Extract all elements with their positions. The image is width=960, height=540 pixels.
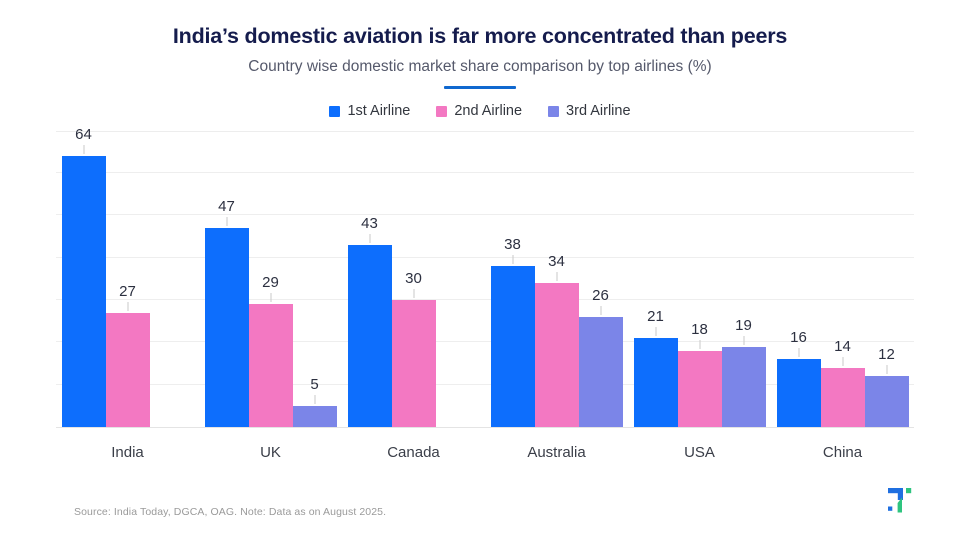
bar-label-tick bbox=[226, 217, 227, 226]
bar-slot: 27 bbox=[106, 132, 150, 427]
bar-slot: 34 bbox=[535, 132, 579, 427]
bar-india-series1[interactable]: 64 bbox=[62, 156, 106, 428]
bar-value-label: 26 bbox=[592, 287, 609, 304]
bar-value-label: 34 bbox=[548, 253, 565, 270]
bar-label-tick bbox=[314, 395, 315, 404]
legend-swatch-icon bbox=[436, 106, 447, 117]
chart-footer: Source: India Today, DGCA, OAG. Note: Da… bbox=[0, 484, 960, 540]
bar-label-tick bbox=[127, 302, 128, 311]
bar-slot: 16 bbox=[777, 132, 821, 427]
bar-australia-series2[interactable]: 34 bbox=[535, 283, 579, 427]
bar-value-label: 12 bbox=[878, 346, 895, 363]
bar-value-label: 21 bbox=[647, 308, 664, 325]
bar-label-tick bbox=[270, 293, 271, 302]
bar-label-tick bbox=[556, 272, 557, 281]
bar-slot: 30 bbox=[392, 132, 436, 427]
bar-value-label: 64 bbox=[75, 126, 92, 143]
brand-logo-icon bbox=[880, 484, 914, 518]
bar-china-series2[interactable]: 14 bbox=[821, 368, 865, 427]
bar-slot: 64 bbox=[62, 132, 106, 427]
accent-rule bbox=[444, 86, 516, 89]
bar-value-label: 5 bbox=[310, 376, 318, 393]
bar-value-label: 47 bbox=[218, 198, 235, 215]
category-label-uk: UK bbox=[199, 444, 342, 461]
bar-label-tick bbox=[798, 348, 799, 357]
bar-value-label: 19 bbox=[735, 317, 752, 334]
bar-group-china: 161412 bbox=[771, 132, 914, 427]
bar-usa-series3[interactable]: 19 bbox=[722, 347, 766, 428]
legend-item-3[interactable]: 3rd Airline bbox=[548, 103, 630, 119]
bar-china-series3[interactable]: 12 bbox=[865, 376, 909, 427]
bar-value-label: 29 bbox=[262, 274, 279, 291]
bar-value-label: 43 bbox=[361, 215, 378, 232]
bar-label-tick bbox=[600, 306, 601, 315]
bar-slot bbox=[150, 132, 194, 427]
bar-usa-series1[interactable]: 21 bbox=[634, 338, 678, 427]
bar-canada-series2[interactable]: 30 bbox=[392, 300, 436, 427]
bar-canada-series1[interactable]: 43 bbox=[348, 245, 392, 427]
bar-slot: 43 bbox=[348, 132, 392, 427]
bar-label-tick bbox=[886, 365, 887, 374]
category-label-india: India bbox=[56, 444, 199, 461]
bar-value-label: 14 bbox=[834, 338, 851, 355]
bar-groups: 6427472954330383426211819161412 bbox=[56, 132, 914, 427]
bar-label-tick bbox=[369, 234, 370, 243]
chart-legend: 1st Airline2nd Airline3rd Airline bbox=[0, 103, 960, 119]
source-note: Source: India Today, DGCA, OAG. Note: Da… bbox=[74, 506, 386, 518]
legend-label: 3rd Airline bbox=[566, 103, 630, 119]
bar-group-australia: 383426 bbox=[485, 132, 628, 427]
bar-slot bbox=[436, 132, 480, 427]
bar-slot: 19 bbox=[722, 132, 766, 427]
bar-label-tick bbox=[743, 336, 744, 345]
bar-slot: 21 bbox=[634, 132, 678, 427]
page-title: India’s domestic aviation is far more co… bbox=[0, 24, 960, 49]
bar-label-tick bbox=[699, 340, 700, 349]
bar-india-series2[interactable]: 27 bbox=[106, 313, 150, 428]
bar-value-label: 30 bbox=[405, 270, 422, 287]
legend-swatch-icon bbox=[548, 106, 559, 117]
bar-value-label: 16 bbox=[790, 329, 807, 346]
category-axis: IndiaUKCanadaAustraliaUSAChina bbox=[56, 444, 914, 461]
bar-slot: 26 bbox=[579, 132, 623, 427]
legend-label: 1st Airline bbox=[347, 103, 410, 119]
bar-group-usa: 211819 bbox=[628, 132, 771, 427]
bar-label-tick bbox=[83, 145, 84, 154]
category-label-usa: USA bbox=[628, 444, 771, 461]
bar-group-uk: 47295 bbox=[199, 132, 342, 427]
bar-group-india: 6427 bbox=[56, 132, 199, 427]
bar-slot: 38 bbox=[491, 132, 535, 427]
bar-value-label: 38 bbox=[504, 236, 521, 253]
bar-uk-series1[interactable]: 47 bbox=[205, 228, 249, 427]
chart-card: India’s domestic aviation is far more co… bbox=[0, 0, 960, 540]
legend-item-2[interactable]: 2nd Airline bbox=[436, 103, 522, 119]
bar-uk-series3[interactable]: 5 bbox=[293, 406, 337, 427]
bar-value-label: 27 bbox=[119, 283, 136, 300]
legend-item-1[interactable]: 1st Airline bbox=[329, 103, 410, 119]
bar-slot: 47 bbox=[205, 132, 249, 427]
category-label-australia: Australia bbox=[485, 444, 628, 461]
chart-header: India’s domestic aviation is far more co… bbox=[0, 0, 960, 89]
bar-australia-series1[interactable]: 38 bbox=[491, 266, 535, 427]
bar-label-tick bbox=[655, 327, 656, 336]
bar-label-tick bbox=[413, 289, 414, 298]
bar-slot: 18 bbox=[678, 132, 722, 427]
bar-china-series1[interactable]: 16 bbox=[777, 359, 821, 427]
category-label-china: China bbox=[771, 444, 914, 461]
bar-uk-series2[interactable]: 29 bbox=[249, 304, 293, 427]
bar-slot: 12 bbox=[865, 132, 909, 427]
bar-slot: 14 bbox=[821, 132, 865, 427]
chart-subtitle: Country wise domestic market share compa… bbox=[0, 58, 960, 77]
bar-label-tick bbox=[512, 255, 513, 264]
legend-swatch-icon bbox=[329, 106, 340, 117]
plot-wrap: 6427472954330383426211819161412 bbox=[56, 131, 914, 433]
bar-label-tick bbox=[842, 357, 843, 366]
bar-value-label: 18 bbox=[691, 321, 708, 338]
category-label-canada: Canada bbox=[342, 444, 485, 461]
bar-australia-series3[interactable]: 26 bbox=[579, 317, 623, 427]
bar-slot: 5 bbox=[293, 132, 337, 427]
bar-slot: 29 bbox=[249, 132, 293, 427]
legend-label: 2nd Airline bbox=[454, 103, 522, 119]
bar-group-canada: 4330 bbox=[342, 132, 485, 427]
plot-area: 6427472954330383426211819161412 bbox=[56, 131, 914, 428]
bar-usa-series2[interactable]: 18 bbox=[678, 351, 722, 427]
